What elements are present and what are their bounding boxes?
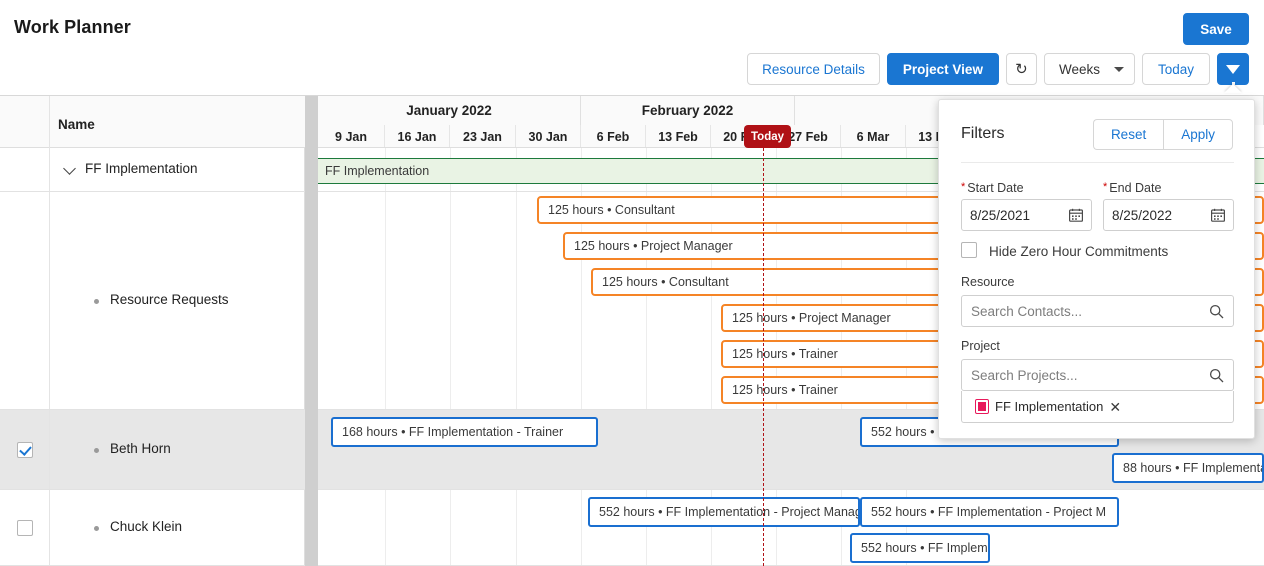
resource-label: Resource [961,275,1015,289]
start-date-value: 8/25/2021 [970,208,1069,223]
calendar-icon[interactable] [1211,208,1225,222]
start-date-field[interactable]: 8/25/2021 [961,199,1092,231]
start-date-label: *Start Date [961,181,1024,195]
search-icon[interactable] [1209,304,1224,319]
gantt-bar[interactable]: 552 hours • FF Implementation - Project … [588,497,860,527]
funnel-icon [1226,65,1240,74]
today-marker-line [763,148,764,566]
zoom-level-label: Weeks [1059,62,1100,77]
gantt-bar[interactable]: 88 hours • FF Implementation - Trainer [1112,453,1264,483]
required-asterisk: * [1103,181,1107,193]
zoom-level-dropdown[interactable]: Weeks [1044,53,1135,85]
timeline-month-cell: January 2022 [318,96,581,125]
bullet-icon [94,448,99,453]
end-date-label: *End Date [1103,181,1161,195]
refresh-icon[interactable]: ↻ [1006,53,1037,85]
timeline-week-cell: 13 Feb [646,125,711,148]
gantt-bar[interactable]: 552 hours • FF Implementation - Project … [860,497,1119,527]
timeline-week-cell: 6 Feb [581,125,646,148]
table-row[interactable]: FF Implementation [0,148,305,192]
timeline-week-cell: 6 Mar [841,125,906,148]
project-chip[interactable]: FF Implementation ✕ [969,395,1127,419]
row-label: Resource Requests [110,292,229,307]
work-planner-app: Work Planner Save Resource Details Proje… [0,0,1264,566]
required-asterisk: * [961,181,965,193]
chevron-down-icon [1114,67,1124,72]
resource-search-input[interactable]: Search Contacts... [961,295,1234,327]
timeline-week-cell: 30 Jan [516,125,581,148]
popover-pointer [1224,84,1242,93]
project-icon [975,399,989,414]
gantt-row: 552 hours • FF Implementation - Project … [318,490,1264,566]
toolbar: Resource Details Project View ↻ Weeks To… [747,53,1249,85]
row-checkbox[interactable] [17,520,33,536]
row-label: FF Implementation [85,161,198,176]
left-grid-pane: Name FF ImplementationResource RequestsB… [0,96,305,566]
project-selected-chips: FF Implementation ✕ [961,391,1234,423]
table-row[interactable]: Resource Requests [0,192,305,410]
today-marker-badge: Today [744,125,791,148]
project-view-button[interactable]: Project View [887,53,999,85]
filters-popover: Filters Reset Apply *Start Date 8/25/202… [938,99,1255,439]
apply-button[interactable]: Apply [1163,119,1233,150]
timeline-month-cell: February 2022 [581,96,795,125]
search-icon[interactable] [1209,368,1224,383]
page-title: Work Planner [14,17,131,38]
pane-splitter[interactable] [305,96,318,566]
resource-search-placeholder: Search Contacts... [971,304,1209,319]
table-row[interactable]: Beth Horn [0,410,305,490]
table-row[interactable]: Chuck Klein [0,490,305,566]
gantt-bar[interactable]: 552 hours • FF Implementation - Trainer [850,533,990,563]
row-select-cell[interactable] [0,148,50,191]
end-date-value: 8/25/2022 [1112,208,1211,223]
save-button[interactable]: Save [1183,13,1249,45]
filters-divider [961,162,1234,163]
calendar-icon[interactable] [1069,208,1083,222]
project-search-input[interactable]: Search Projects... [961,359,1234,391]
row-label: Chuck Klein [110,519,182,534]
gantt-bar[interactable]: 168 hours • FF Implementation - Trainer [331,417,598,447]
resource-details-button[interactable]: Resource Details [747,53,880,85]
close-icon[interactable]: ✕ [1109,400,1121,414]
left-grid-header: Name [0,96,305,148]
row-label: Beth Horn [110,441,171,456]
row-select-cell[interactable] [0,490,50,565]
bullet-icon [94,526,99,531]
row-select-cell[interactable] [0,192,50,409]
filters-actions: Reset Apply [1093,119,1233,150]
today-button[interactable]: Today [1142,53,1210,85]
project-search-placeholder: Search Projects... [971,368,1209,383]
project-label: Project [961,339,1000,353]
timeline-week-cell: 23 Jan [450,125,516,148]
select-all-cell[interactable] [0,96,50,148]
timeline-week-cell: 16 Jan [385,125,450,148]
reset-button[interactable]: Reset [1093,119,1163,150]
timeline-week-cell: 9 Jan [318,125,385,148]
filters-title: Filters [961,125,1005,143]
row-select-cell[interactable] [0,410,50,489]
project-chip-label: FF Implementation [995,399,1103,414]
end-date-field[interactable]: 8/25/2022 [1103,199,1234,231]
column-header-name: Name [58,117,95,132]
row-checkbox[interactable] [17,442,33,458]
filter-button[interactable] [1217,53,1249,85]
hide-zero-hour-label: Hide Zero Hour Commitments [989,244,1168,259]
hide-zero-hour-checkbox[interactable] [961,242,977,258]
chevron-down-icon[interactable] [64,163,77,176]
bullet-icon [94,299,99,304]
